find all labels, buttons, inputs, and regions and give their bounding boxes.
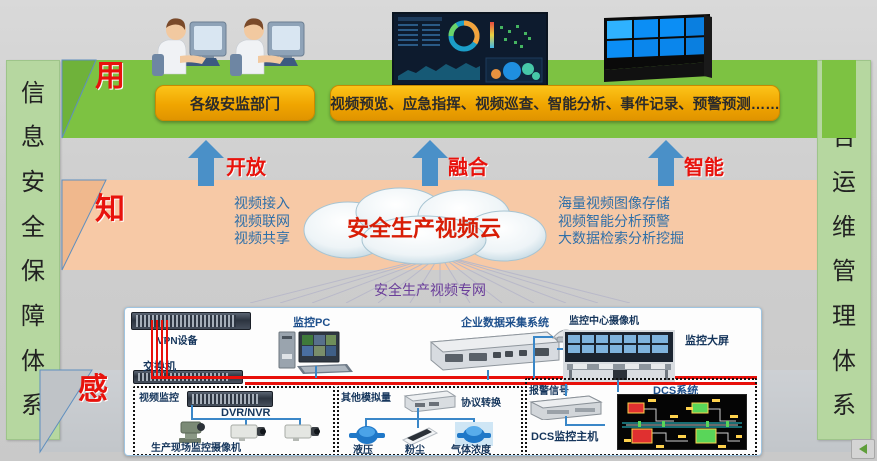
banner-left-char-1: 息 <box>21 126 45 150</box>
corner-indicator[interactable] <box>851 439 875 459</box>
arrow-label-open: 开放 <box>226 151 266 180</box>
pill-application-functions[interactable]: 视频预览、应急指挥、视频巡查、智能分析、事件记录、预警预测…… <box>330 85 780 121</box>
banner-right-char-6: 体 <box>832 350 856 374</box>
banner-right-char-0: 综 <box>832 82 856 106</box>
label-switch: 交换机 <box>143 358 176 374</box>
banner-left-char-3: 全 <box>21 216 45 240</box>
cloud-left-line-2: 视频共享 <box>150 231 290 249</box>
control-room-big-screen-icon <box>563 330 675 382</box>
caption-field-cameras: 生产现场监控摄像机 <box>151 439 241 454</box>
corner-arrow-icon <box>859 444 867 454</box>
video-wall-illustration <box>596 12 718 82</box>
trunk-line <box>166 320 168 378</box>
blue-link-line <box>533 336 535 378</box>
operators-illustration <box>150 8 310 82</box>
blue-link-line <box>365 418 475 420</box>
cloud-title: 安全生产视频云 <box>288 211 560 243</box>
arrow-label-intelligent: 智能 <box>684 151 724 180</box>
banner-left-char-2: 安 <box>21 171 45 195</box>
label-sensor-gas: 气体浓度 <box>451 441 491 456</box>
blue-link-line <box>533 336 553 338</box>
arrow-label-fusion: 融合 <box>448 151 488 180</box>
banner-left-char-7: 系 <box>21 394 45 418</box>
banner-right-char-1: 合 <box>832 126 856 150</box>
cloud-left-line-0: 视频接入 <box>150 196 290 214</box>
banner-right-char-3: 维 <box>832 216 856 240</box>
label-video-surveillance: 视频监控 <box>139 389 179 404</box>
pill-safety-supervision-departments[interactable]: 各级安监部门 <box>155 85 315 121</box>
banner-left-char-6: 体 <box>21 350 45 374</box>
cloud-right-line-0: 海量视频图像存储 <box>558 196 768 214</box>
protocol-converter-icon <box>401 388 457 412</box>
label-protocol-converter: 协议转换 <box>461 394 501 409</box>
arrow-up-fusion <box>412 140 448 186</box>
banner-left-security-system: 信 息 安 全 保 障 体 系 <box>6 60 60 440</box>
cloud-right-line-1: 视频智能分析预警 <box>558 214 768 232</box>
label-collector: 企业数据采集系统 <box>461 314 549 330</box>
private-network-label: 安全生产视频专网 <box>330 280 530 300</box>
banner-right-char-2: 运 <box>832 171 856 195</box>
dcs-hmi-screen-icon <box>617 394 747 450</box>
label-big-screen: 监控大屏 <box>685 332 729 348</box>
vpn-device-icon <box>131 312 251 330</box>
banner-right-char-7: 系 <box>832 394 856 418</box>
blue-link-line <box>565 424 605 426</box>
label-dcs-host: DCS监控主机 <box>531 428 598 444</box>
blue-link-line <box>487 370 489 380</box>
device-panel: VPN设备 交换机 监控PC <box>124 307 762 456</box>
banner-left-char-4: 保 <box>21 260 45 284</box>
blue-link-line <box>565 384 567 396</box>
layer-tag-application: 用 <box>95 62 125 92</box>
trunk-line <box>161 320 163 378</box>
cloud-left-capabilities: 视频接入 视频联网 视频共享 <box>150 196 290 249</box>
blue-link-line <box>191 405 193 419</box>
cloud-right-capabilities: 海量视频图像存储 视频智能分析预警 大数据检索分析挖掘 <box>558 196 768 249</box>
trunk-line <box>156 320 158 378</box>
layer-tag-platform: 知 <box>95 195 125 225</box>
blue-link-line <box>315 366 317 378</box>
cloud-left-line-1: 视频联网 <box>150 214 290 232</box>
analytics-dashboard-image <box>392 12 548 86</box>
trunk-line <box>151 320 153 378</box>
label-sensor-hydraulic: 液压 <box>353 441 373 456</box>
dvr-nvr-icon <box>187 391 273 407</box>
architecture-diagram: 信 息 安 全 保 障 体 系 综 合 运 维 管 理 体 系 用 知 感 <box>0 0 877 461</box>
banner-left-char-5: 障 <box>21 305 45 329</box>
bullet-camera-icon <box>283 422 321 442</box>
label-vpn: VPN设备 <box>157 332 198 347</box>
layer-tag-perception: 感 <box>78 375 108 405</box>
banner-right-char-4: 管 <box>832 260 856 284</box>
label-analog-signals: 其他模拟量 <box>341 389 391 404</box>
banner-right-char-5: 理 <box>832 305 856 329</box>
banner-right-ops-system: 综 合 运 维 管 理 体 系 <box>817 60 871 440</box>
cloud-right-line-2: 大数据检索分析挖掘 <box>558 231 768 249</box>
arrow-up-open <box>188 140 224 186</box>
label-sensor-dust: 粉尘 <box>405 441 425 456</box>
banner-left-char-0: 信 <box>21 82 45 106</box>
arrow-up-intelligent <box>648 140 684 186</box>
